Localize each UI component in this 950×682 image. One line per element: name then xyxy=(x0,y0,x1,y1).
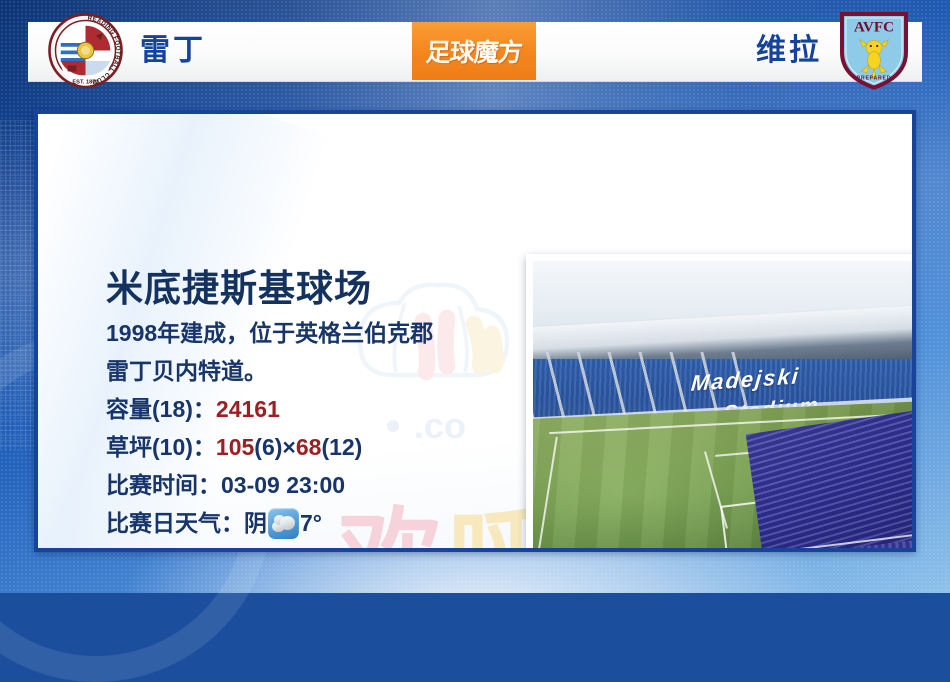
match-time-value: 03-09 23:00 xyxy=(221,472,345,498)
crest-motto: PREPARED xyxy=(857,76,891,82)
crest-initials: AVFC xyxy=(854,19,894,36)
pitch-label: 草坪(10)： xyxy=(106,434,216,460)
crest-founded-text: EST. 1871 xyxy=(72,80,98,86)
reading-fc-crest-icon: READING FOOTBALL CLUB EST. 1871 xyxy=(48,13,123,88)
site-logo-button[interactable]: 足球魔方 xyxy=(412,22,536,80)
capacity-label: 容量(18)： xyxy=(106,396,216,422)
photo-right-stand-seats xyxy=(746,409,912,548)
stadium-info-card: .co 欢呼 米底捷斯基球场 1998年建成，位于英格兰伯克郡 雷丁贝内特道。 … xyxy=(34,110,916,552)
home-team-name: 雷丁 xyxy=(140,28,340,74)
match-header: READING FOOTBALL CLUB EST. 1871 雷丁 足球魔方 … xyxy=(0,0,950,100)
match-time-row: 比赛时间：03-09 23:00 xyxy=(106,466,506,504)
capacity-row: 容量(18)：24161 xyxy=(106,390,506,428)
card-inner: .co 欢呼 米底捷斯基球场 1998年建成，位于英格兰伯克郡 雷丁贝内特道。 … xyxy=(38,114,912,548)
stadium-name: 米底捷斯基球场 xyxy=(106,264,506,314)
weather-temperature: 7° xyxy=(300,510,322,536)
pitch-size-row: 草坪(10)：105(6)×68(12) xyxy=(106,428,506,466)
weather-row: 比赛日天气：阴7° xyxy=(106,504,506,542)
pitch-length: 105 xyxy=(216,434,254,460)
stadium-description-line-2: 雷丁贝内特道。 xyxy=(106,352,506,390)
pitch-width-rank: (12) xyxy=(321,434,362,460)
pitch-width: 68 xyxy=(296,434,322,460)
weather-label: 比赛日天气： xyxy=(106,510,244,536)
stadium-description-line-1: 1998年建成，位于英格兰伯克郡 xyxy=(106,314,506,352)
stadium-info-block: 米底捷斯基球场 1998年建成，位于英格兰伯克郡 雷丁贝内特道。 容量(18)：… xyxy=(106,264,506,542)
pitch-separator: × xyxy=(282,434,295,460)
weather-condition: 阴 xyxy=(244,510,267,536)
capacity-value: 24161 xyxy=(216,396,280,422)
away-team-name: 维拉 xyxy=(600,28,822,74)
pitch-length-rank: (6) xyxy=(254,434,282,460)
match-time-label: 比赛时间： xyxy=(106,472,221,498)
aston-villa-crest-icon: AVFC PREPARED xyxy=(838,9,910,91)
stadium-photo-frame[interactable]: Madejski Stadium xyxy=(526,254,912,548)
madejski-stadium-photo: Madejski Stadium xyxy=(533,261,912,548)
overcast-cloud-icon xyxy=(268,508,299,539)
site-logo-text: 足球魔方 xyxy=(425,33,524,69)
